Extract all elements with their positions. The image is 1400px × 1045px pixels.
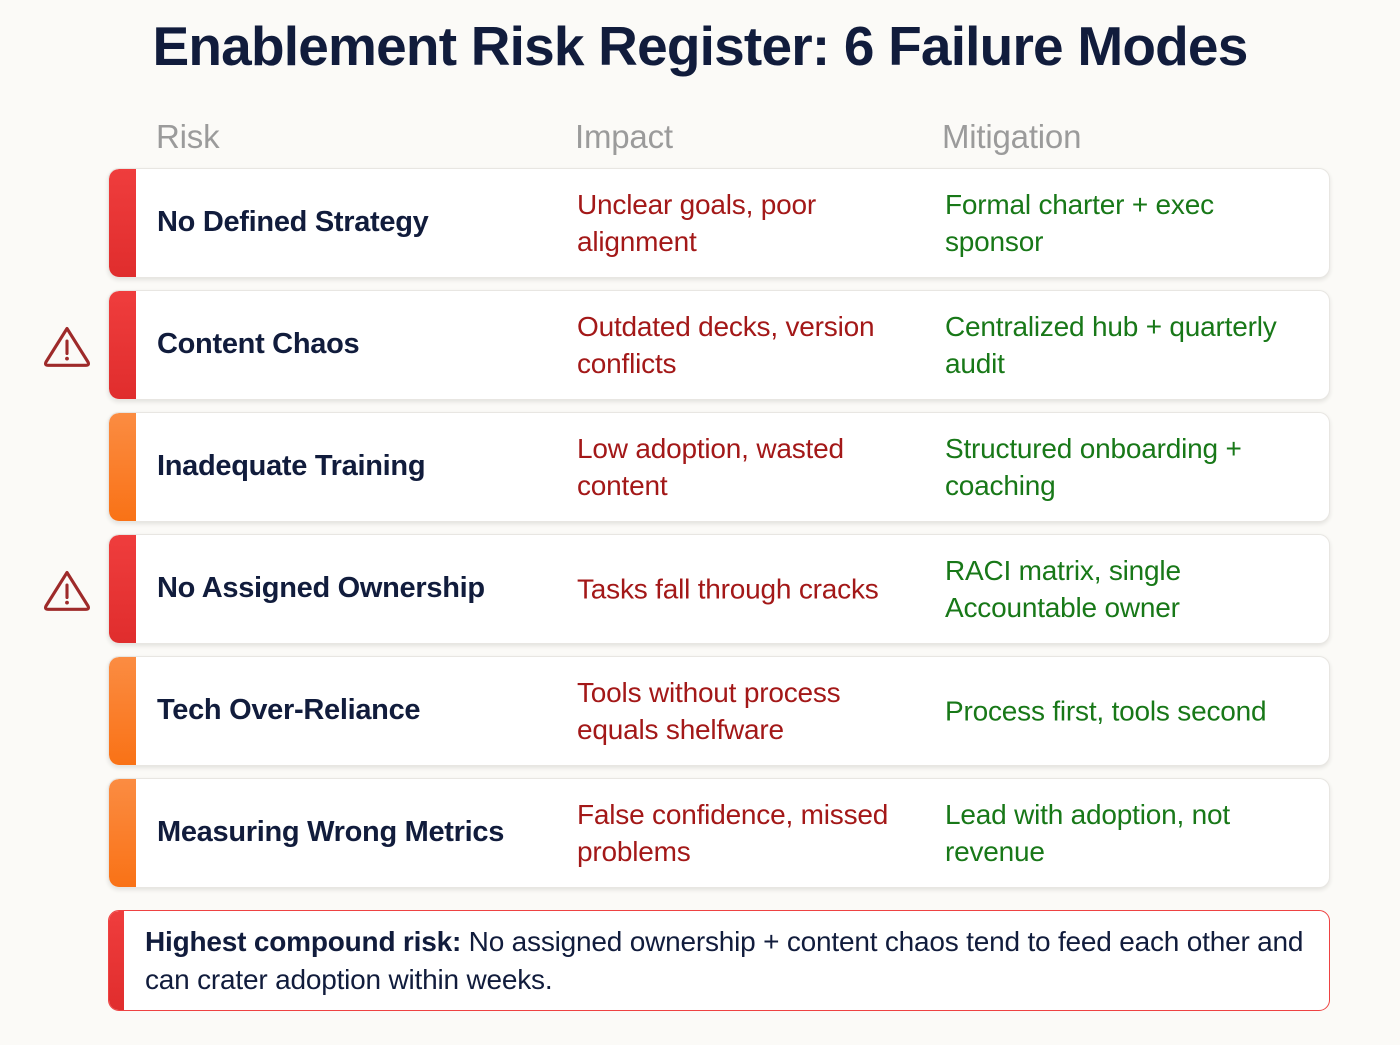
severity-accent-bar bbox=[109, 291, 136, 399]
risk-mitigation: Process first, tools second bbox=[945, 692, 1315, 729]
risk-card[interactable]: Inadequate TrainingLow adoption, wasted … bbox=[108, 412, 1330, 522]
risk-name: No Assigned Ownership bbox=[157, 570, 557, 608]
risk-row: Content ChaosOutdated decks, version con… bbox=[0, 290, 1400, 400]
risk-card[interactable]: No Assigned OwnershipTasks fall through … bbox=[108, 534, 1330, 644]
column-headers: Risk Impact Mitigation bbox=[0, 117, 1400, 163]
warning-triangle-icon bbox=[40, 443, 94, 491]
risk-name: Inadequate Training bbox=[157, 448, 557, 486]
risk-name: Measuring Wrong Metrics bbox=[157, 814, 557, 852]
page-title: Enablement Risk Register: 6 Failure Mode… bbox=[0, 18, 1400, 76]
risk-row: Tech Over-RelianceTools without process … bbox=[0, 656, 1400, 766]
risk-name: Tech Over-Reliance bbox=[157, 692, 557, 730]
risk-mitigation: Structured onboarding + coaching bbox=[945, 430, 1315, 504]
severity-accent-bar bbox=[109, 779, 136, 887]
risk-name: No Defined Strategy bbox=[157, 204, 557, 242]
risk-impact: Outdated decks, version conflicts bbox=[577, 308, 927, 382]
risk-card[interactable]: No Defined StrategyUnclear goals, poor a… bbox=[108, 168, 1330, 278]
column-header-mitigation: Mitigation bbox=[942, 117, 1081, 157]
risk-row: No Assigned OwnershipTasks fall through … bbox=[0, 534, 1400, 644]
risk-row: Inadequate TrainingLow adoption, wasted … bbox=[0, 412, 1400, 522]
risk-card[interactable]: Measuring Wrong MetricsFalse confidence,… bbox=[108, 778, 1330, 888]
severity-accent-bar bbox=[109, 535, 136, 643]
risk-impact: Tools without process equals shelfware bbox=[577, 674, 927, 748]
risk-impact: Low adoption, wasted content bbox=[577, 430, 927, 504]
warning-triangle-icon bbox=[40, 321, 94, 369]
risk-row: Measuring Wrong MetricsFalse confidence,… bbox=[0, 778, 1400, 888]
risk-card[interactable]: Content ChaosOutdated decks, version con… bbox=[108, 290, 1330, 400]
severity-accent-bar bbox=[109, 169, 136, 277]
risk-mitigation: Formal charter + exec sponsor bbox=[945, 186, 1315, 260]
warning-triangle-icon bbox=[40, 199, 94, 247]
warning-triangle-icon bbox=[40, 687, 94, 735]
risk-mitigation: Lead with adoption, not revenue bbox=[945, 796, 1315, 870]
risk-name: Content Chaos bbox=[157, 326, 557, 364]
risk-card[interactable]: Tech Over-RelianceTools without process … bbox=[108, 656, 1330, 766]
callout-label: Highest compound risk: bbox=[145, 925, 461, 956]
severity-accent-bar bbox=[109, 657, 136, 765]
severity-accent-bar bbox=[109, 413, 136, 521]
compound-risk-callout: Highest compound risk: No assigned owner… bbox=[108, 910, 1330, 1011]
risk-mitigation: RACI matrix, single Accountable owner bbox=[945, 552, 1315, 626]
risk-impact: Tasks fall through cracks bbox=[577, 570, 927, 607]
callout-accent-bar bbox=[109, 911, 124, 1010]
risk-rows-list: No Defined StrategyUnclear goals, poor a… bbox=[0, 168, 1400, 900]
risk-mitigation: Centralized hub + quarterly audit bbox=[945, 308, 1315, 382]
warning-triangle-icon bbox=[40, 809, 94, 857]
risk-impact: Unclear goals, poor alignment bbox=[577, 186, 927, 260]
column-header-impact: Impact bbox=[575, 117, 673, 157]
warning-triangle-icon bbox=[40, 565, 94, 613]
column-header-risk: Risk bbox=[156, 117, 219, 157]
risk-row: No Defined StrategyUnclear goals, poor a… bbox=[0, 168, 1400, 278]
risk-impact: False confidence, missed problems bbox=[577, 796, 927, 870]
callout-text: Highest compound risk: No assigned owner… bbox=[145, 922, 1305, 998]
